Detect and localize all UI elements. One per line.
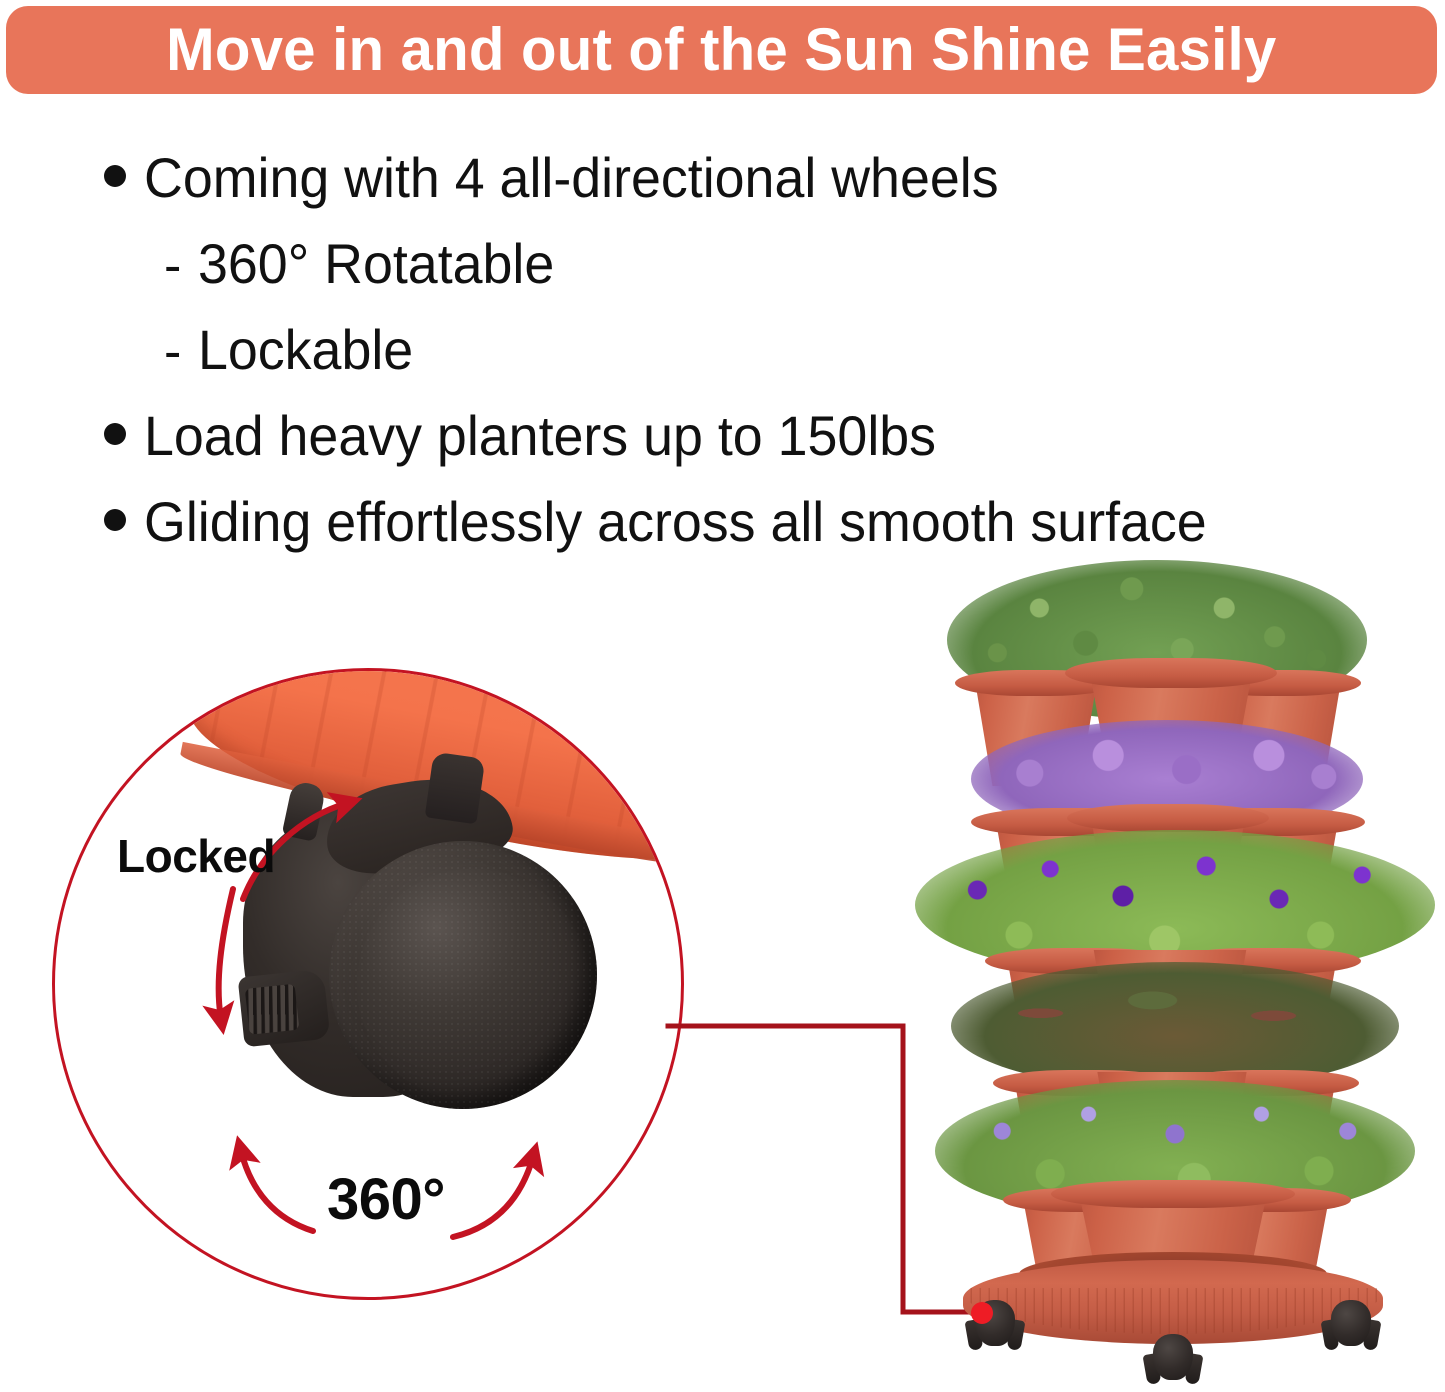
feature-text: Lockable [198,322,413,378]
wheel-tire [329,841,597,1109]
caster-front-right [1325,1300,1377,1356]
dash-marker-icon: - [164,240,186,292]
feature-item-rotatable: - 360° Rotatable [104,236,1424,322]
dash-marker-icon: - [164,326,186,378]
feature-list: Coming with 4 all-directional wheels - 3… [104,150,1424,580]
pot-rim-5-center [1051,1180,1295,1208]
bullet-dot-icon [104,509,126,531]
feature-text: Gliding effortlessly across all smooth s… [144,494,1207,550]
pot-rim-1-center [1065,658,1277,688]
feature-item-wheels: Coming with 4 all-directional wheels [104,150,1424,236]
caddy-ring [963,1260,1383,1344]
pot-rim-2-center [1067,804,1269,832]
feature-text: Coming with 4 all-directional wheels [144,150,999,206]
brake-lever [238,969,331,1048]
feature-item-lockable: - Lockable [104,322,1424,408]
caster-body [1153,1334,1193,1380]
wheel-stem [425,752,486,825]
locked-label: Locked [117,833,275,879]
feature-item-load: Load heavy planters up to 150lbs [104,408,1424,494]
foliage-bronze [951,962,1399,1090]
rotation-label: 360° [327,1171,445,1229]
caster-body [1331,1300,1371,1346]
bullet-dot-icon [104,423,126,445]
caster-wheel-photo [233,797,613,1127]
feature-text: 360° Rotatable [198,236,554,292]
feature-text: Load heavy planters up to 150lbs [144,408,936,464]
header-banner: Move in and out of the Sun Shine Easily [6,6,1437,94]
caster-front-center [1147,1334,1199,1390]
bullet-dot-icon [104,165,126,187]
tire-texture [329,841,597,1109]
infographic-page: Move in and out of the Sun Shine Easily … [0,0,1445,1392]
wheeled-base-caddy [963,1260,1383,1356]
callout-circle-outline: Locked 360° [52,668,684,1300]
page-title: Move in and out of the Sun Shine Easily [166,20,1276,80]
planter-tower-photo [905,560,1445,1392]
caster-callout: Locked 360° [52,668,684,1300]
pointer-dot-icon [971,1302,993,1324]
caddy-ribs [963,1288,1383,1334]
brake-ribs [245,984,300,1035]
